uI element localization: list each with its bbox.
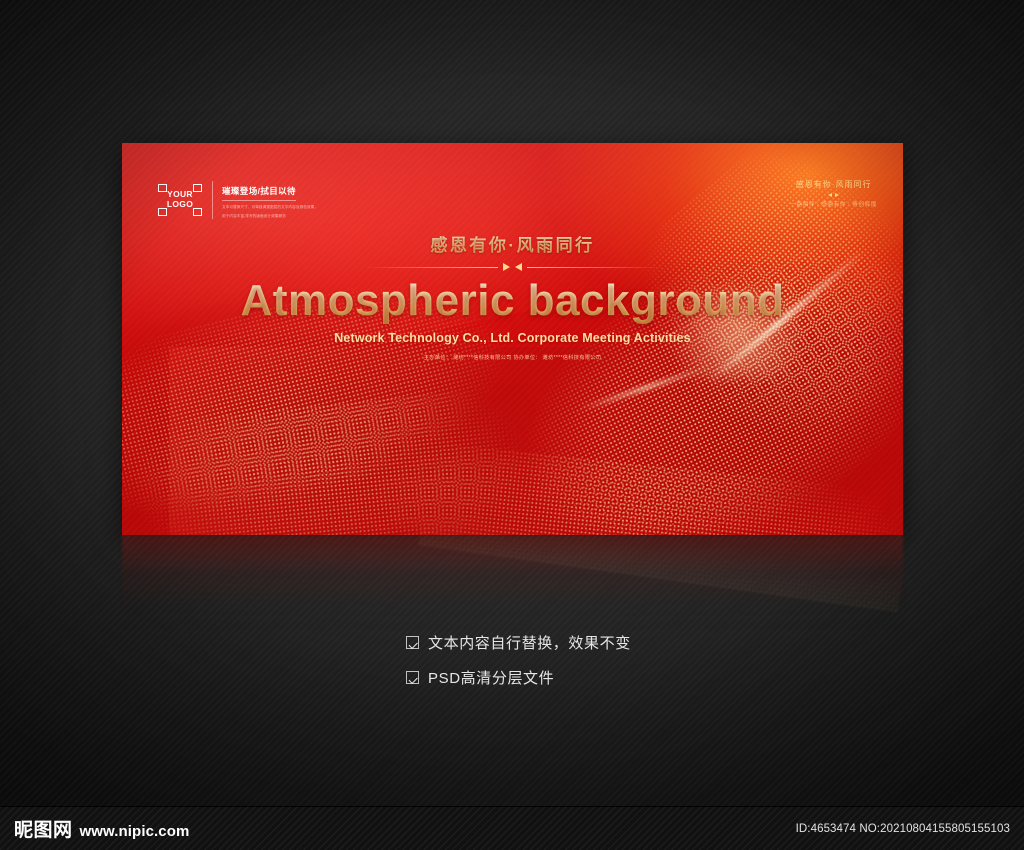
wave-crest-highlight-secondary bbox=[578, 364, 713, 411]
top-right-subline: 一路相伴｜感恩有你｜再创辉煌 bbox=[790, 200, 877, 208]
top-right-headline: 感恩有你·风雨同行 bbox=[790, 179, 877, 190]
logo-subtext-line1: 文本可替换尺寸，可单独调整图层的文字内容及颜色效果， bbox=[222, 204, 318, 210]
poster-banner: YOUR LOGO 璀璨登场/拭目以待 文本可替换尺寸，可单独调整图层的文字内容… bbox=[122, 143, 903, 535]
logo-placeholder-icon: YOUR LOGO bbox=[158, 184, 202, 216]
feature-checklist: 文本内容自行替换，效果不变 PSD高清分层文件 bbox=[406, 632, 631, 702]
checklist-label: PSD高清分层文件 bbox=[428, 667, 554, 688]
top-right-block: 感恩有你·风雨同行 一路相伴｜感恩有你｜再创辉煌 bbox=[790, 179, 877, 208]
checkmark-icon bbox=[406, 671, 419, 684]
divider-ornament-icon bbox=[363, 263, 663, 271]
asset-id-meta: ID:4653474 NO:20210804155805155103 bbox=[796, 823, 1010, 835]
list-item: 文本内容自行替换，效果不变 bbox=[406, 632, 631, 653]
main-title: Atmospheric background bbox=[122, 277, 903, 325]
organizer-line: 主办单位： 潍坊****信科技有限公司 协办单位： 潍坊****信科技有限公司 bbox=[122, 354, 903, 361]
brand-name-cn: 昵图网 bbox=[14, 815, 73, 842]
site-brand[interactable]: 昵图网 www.nipic.com bbox=[14, 815, 189, 842]
checklist-label: 文本内容自行替换，效果不变 bbox=[428, 632, 631, 653]
banner-center-content: 感恩有你·风雨同行 Atmospheric background Network… bbox=[122, 231, 903, 361]
banner-reflection bbox=[122, 535, 903, 631]
logo-slogan: 璀璨登场/拭目以待 bbox=[222, 185, 296, 201]
checkmark-icon bbox=[406, 636, 419, 649]
english-subtitle: Network Technology Co., Ltd. Corporate M… bbox=[122, 331, 903, 345]
logo-subtext-line2: 用于内容丰富,排写的版面设计效果服务 bbox=[222, 213, 318, 219]
site-footer: 昵图网 www.nipic.com ID:4653474 NO:20210804… bbox=[0, 806, 1024, 850]
particle-wave-left-secondary bbox=[130, 380, 575, 535]
brand-url: www.nipic.com bbox=[80, 823, 190, 840]
top-right-ornament-icon bbox=[790, 193, 877, 197]
particle-wave-bottom bbox=[351, 435, 903, 535]
page-backdrop: YOUR LOGO 璀璨登场/拭目以待 文本可替换尺寸，可单独调整图层的文字内容… bbox=[0, 0, 1024, 850]
list-item: PSD高清分层文件 bbox=[406, 667, 631, 688]
logo-mark-line2: LOGO bbox=[167, 200, 193, 210]
logo-block: YOUR LOGO 璀璨登场/拭目以待 文本可替换尺寸，可单独调整图层的文字内容… bbox=[158, 181, 318, 219]
logo-text-group: 璀璨登场/拭目以待 文本可替换尺寸，可单独调整图层的文字内容及颜色效果， 用于内… bbox=[212, 181, 318, 219]
chinese-headline: 感恩有你·风雨同行 bbox=[122, 231, 903, 256]
